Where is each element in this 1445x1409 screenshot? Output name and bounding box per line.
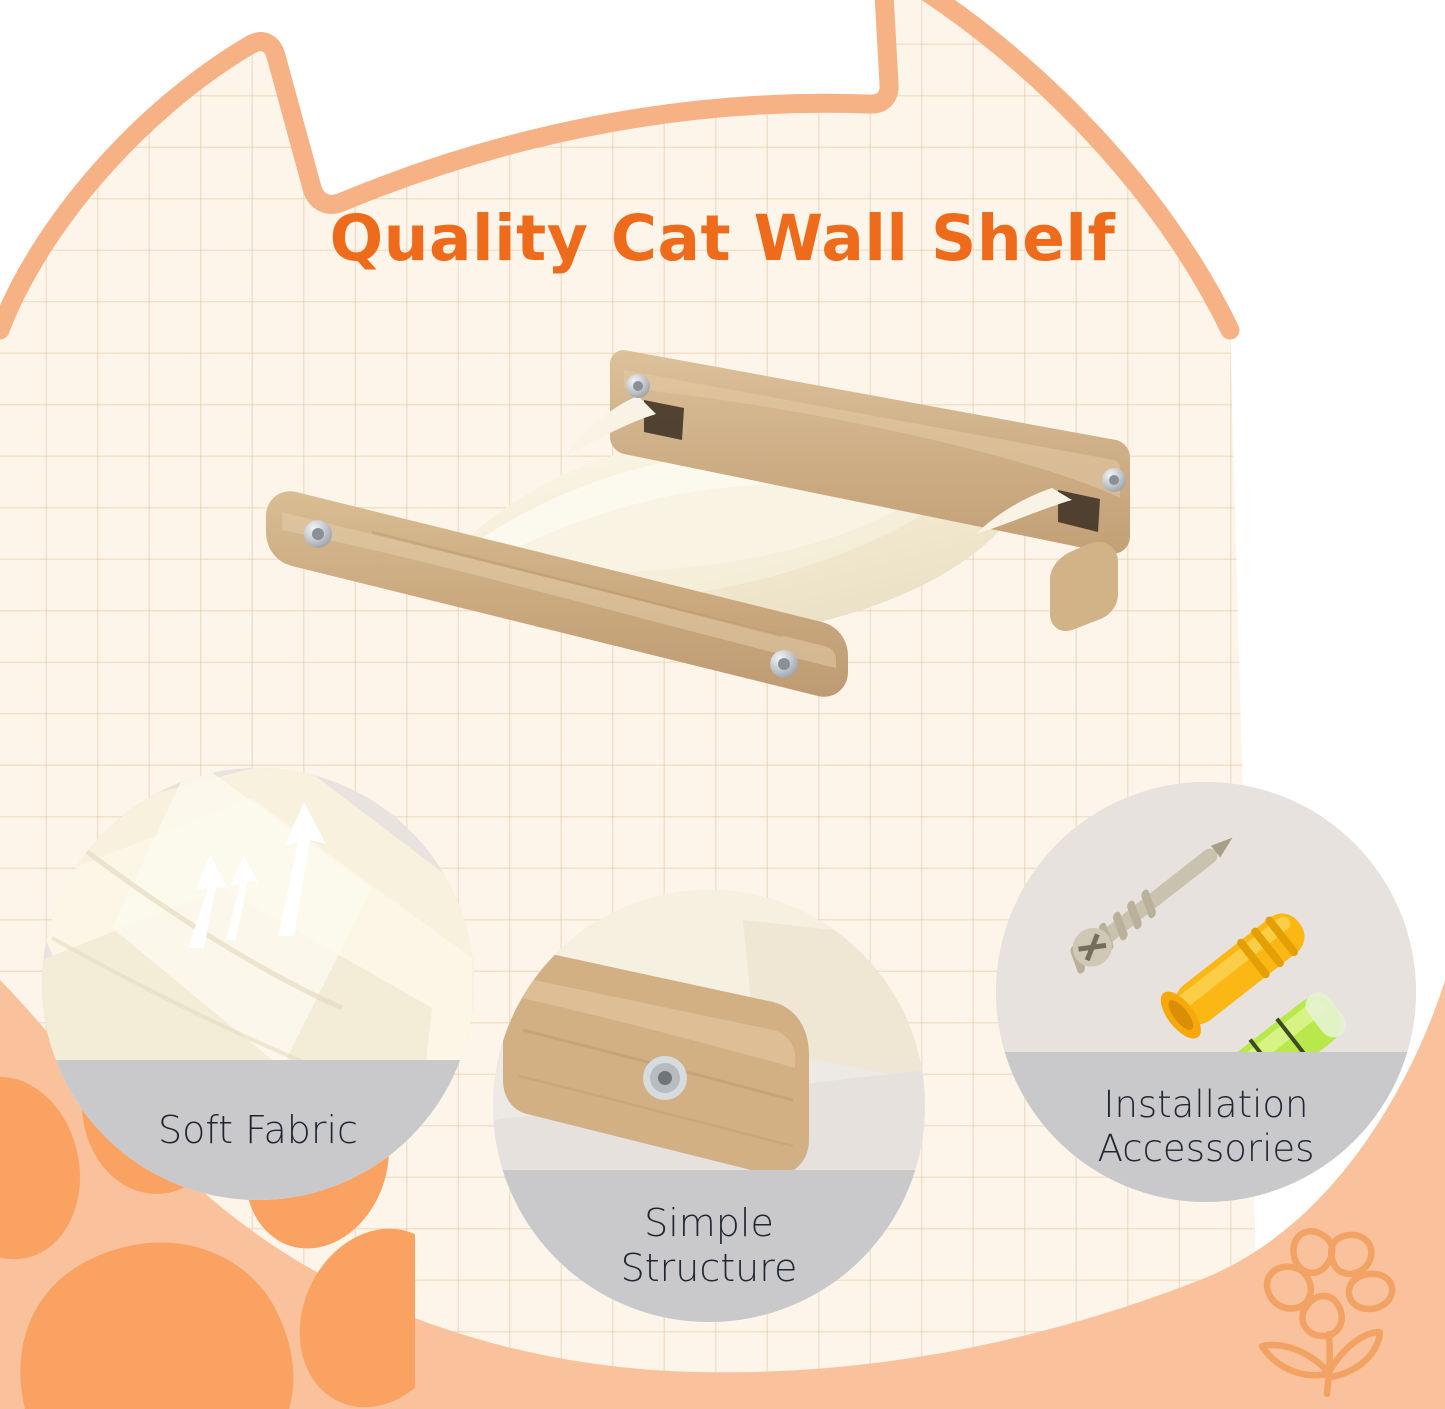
hero-product-image [252, 348, 1152, 708]
feature-label: InstallationAccessories [1098, 1083, 1315, 1170]
feature-card-structure[interactable]: SimpleStructure [493, 890, 925, 1322]
product-infographic-poster: Quality Cat Wall Shelf [0, 0, 1445, 1409]
feature-card-accessories[interactable]: InstallationAccessories [996, 782, 1416, 1202]
feature-label: Soft Fabric [158, 1108, 358, 1153]
page-title: Quality Cat Wall Shelf [0, 202, 1445, 275]
feature-label-band: Soft Fabric [42, 1060, 474, 1200]
feature-card-fabric[interactable]: Soft Fabric [42, 768, 474, 1200]
feature-label: SimpleStructure [621, 1201, 798, 1291]
mounting-screw [643, 1056, 687, 1100]
feature-label-band: InstallationAccessories [996, 1052, 1416, 1202]
feature-label-band: SimpleStructure [493, 1170, 925, 1322]
flower-doodle-icon [1238, 1222, 1428, 1397]
